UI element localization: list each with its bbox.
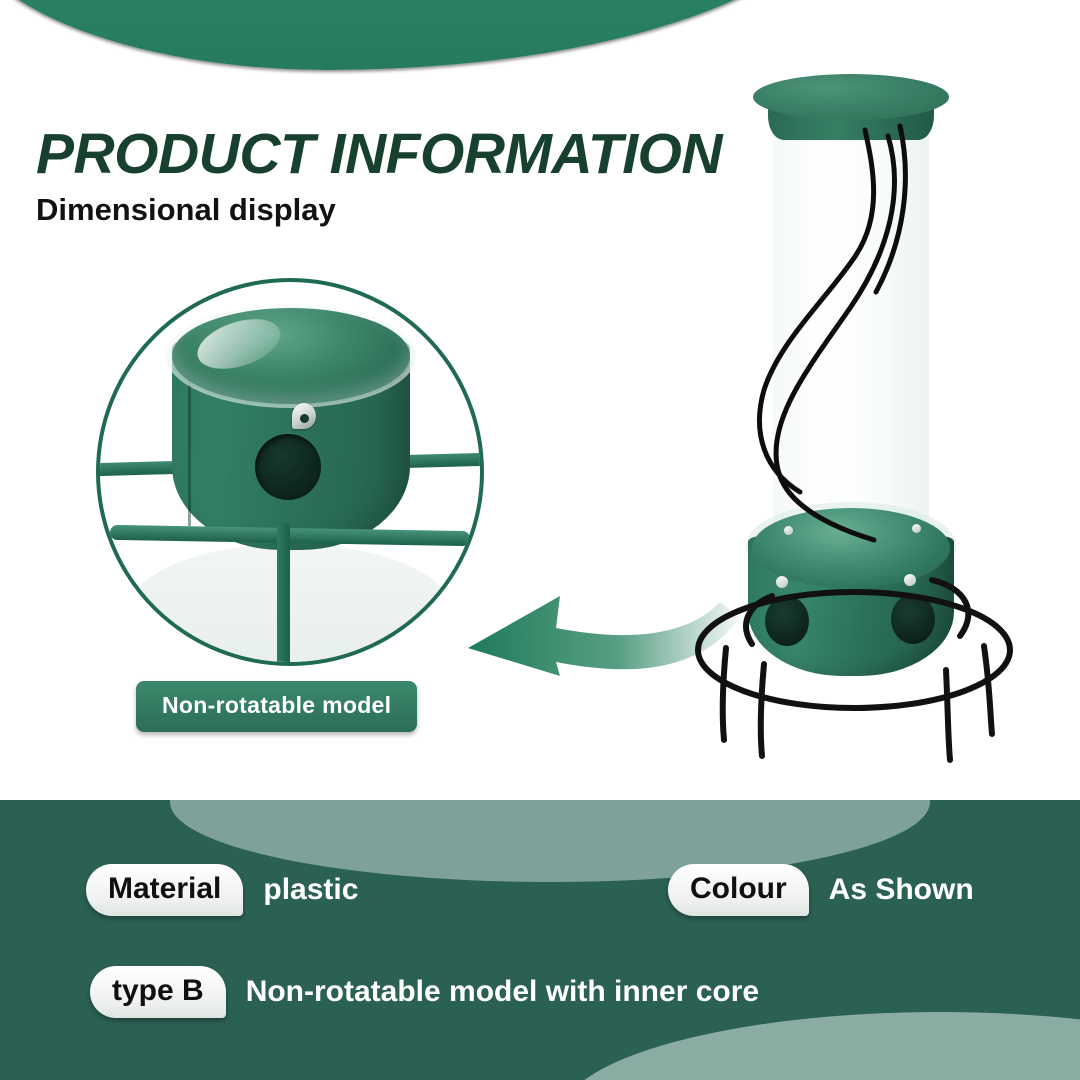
spec-row-colour: Colour As Shown [668, 864, 974, 916]
spec-value-type: Non-rotatable model with inner core [246, 975, 759, 1009]
spec-value-colour: As Shown [829, 873, 974, 907]
specifications-panel [0, 800, 1080, 1080]
screw-icon [292, 403, 316, 429]
wire-ring-lower [110, 525, 470, 546]
wire-stand-icon [660, 40, 1060, 780]
feed-port-hole-icon [255, 434, 321, 500]
product-information-page: PRODUCT INFORMATION Dimensional display … [0, 0, 1080, 1080]
spec-row-material: Material plastic [86, 864, 358, 916]
spec-row-type: type B Non-rotatable model with inner co… [90, 966, 759, 1018]
inset-badge-label: Non-rotatable model [136, 681, 417, 732]
spec-label-type: type B [90, 966, 226, 1018]
page-subtitle: Dimensional display [36, 192, 336, 228]
inset-ground-shadow [130, 544, 450, 666]
spec-label-colour: Colour [668, 864, 809, 916]
wave-decoration-bottom [560, 1012, 1080, 1080]
spec-label-material: Material [86, 864, 243, 916]
page-title: PRODUCT INFORMATION [36, 121, 722, 187]
wire-leg-center [277, 522, 290, 666]
spec-value-material: plastic [263, 873, 358, 907]
magnified-detail-inset [96, 278, 484, 666]
product-illustration [660, 40, 1060, 780]
